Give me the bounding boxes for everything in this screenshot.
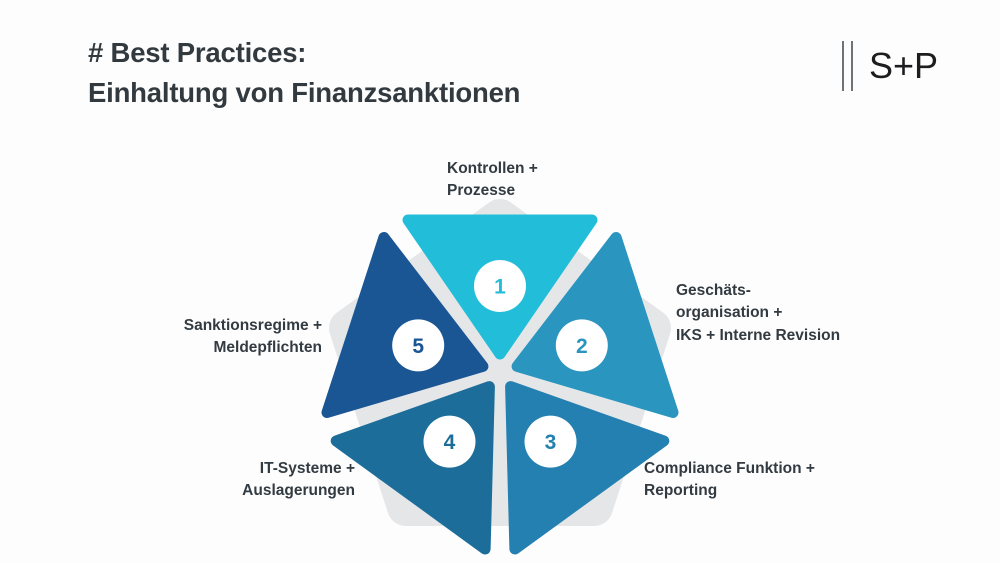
wedge-label-5: Sanktionsregime + Meldepflichten: [60, 315, 322, 360]
logo-bars-icon: [842, 40, 853, 92]
logo-bar-2: [851, 41, 853, 91]
pentagon-wedge-diagram: 12345: [322, 196, 678, 536]
wedge-number-2: 2: [576, 335, 588, 358]
wedge-number-1: 1: [494, 276, 506, 299]
slide-canvas: # Best Practices: Einhaltung von Finanzs…: [0, 0, 1000, 563]
wedge-number-5: 5: [412, 335, 424, 358]
wedge-number-4: 4: [444, 431, 456, 454]
wedge-number-3: 3: [545, 431, 557, 454]
wedge-label-1: Kontrollen + Prozesse: [447, 158, 677, 203]
sp-logo: S+P: [842, 38, 938, 94]
page-title: # Best Practices: Einhaltung von Finanzs…: [88, 33, 768, 112]
wedge-label-4: IT-Systeme + Auslagerungen: [80, 458, 355, 503]
logo-text: S+P: [869, 48, 938, 84]
wedge-label-2: Geschäts- organisation + IKS + Interne R…: [676, 280, 926, 347]
wedge-label-3: Compliance Funktion + Reporting: [644, 458, 924, 503]
diagram-svg: 12345: [322, 196, 678, 536]
slide-header: # Best Practices: Einhaltung von Finanzs…: [0, 0, 1000, 120]
logo-bar-1: [842, 41, 844, 91]
